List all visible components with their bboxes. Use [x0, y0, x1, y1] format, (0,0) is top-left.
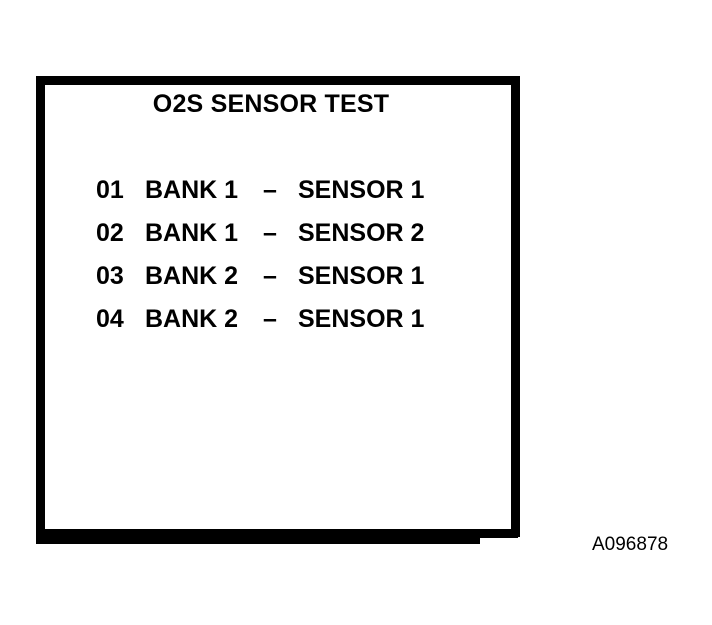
list-item-sensor: SENSOR 1 [298, 262, 448, 291]
screen-title: O2S SENSOR TEST [45, 90, 497, 119]
list-item[interactable]: 02 BANK 1 – SENSOR 2 [96, 219, 448, 262]
screen-frame-left-edge [36, 76, 45, 544]
figure-caption: A096878 [592, 534, 668, 556]
list-item-bank: BANK 2 [145, 305, 263, 334]
list-item-sensor: SENSOR 1 [298, 176, 448, 205]
list-item-index: 01 [96, 176, 145, 205]
list-item-dash: – [263, 219, 298, 248]
list-item[interactable]: 01 BANK 1 – SENSOR 1 [96, 176, 448, 219]
screen-frame-right-edge [511, 76, 520, 537]
list-item-bank: BANK 1 [145, 219, 263, 248]
list-item-sensor: SENSOR 2 [298, 219, 448, 248]
list-item-sensor: SENSOR 1 [298, 305, 448, 334]
screen-frame-top-edge [36, 76, 520, 85]
list-item[interactable]: 04 BANK 2 – SENSOR 1 [96, 305, 448, 348]
list-item-index: 04 [96, 305, 145, 334]
list-item[interactable]: 03 BANK 2 – SENSOR 1 [96, 262, 448, 305]
screen-frame-bottom-step [36, 535, 480, 544]
list-item-dash: – [263, 305, 298, 334]
list-item-dash: – [263, 176, 298, 205]
list-item-bank: BANK 2 [145, 262, 263, 291]
list-item-bank: BANK 1 [145, 176, 263, 205]
screen-frame-bottom-tail [478, 529, 518, 538]
figure-canvas: O2S SENSOR TEST 01 BANK 1 – SENSOR 1 02 … [0, 0, 712, 625]
list-item-index: 02 [96, 219, 145, 248]
list-item-dash: – [263, 262, 298, 291]
list-item-index: 03 [96, 262, 145, 291]
o2s-test-menu-list: 01 BANK 1 – SENSOR 1 02 BANK 1 – SENSOR … [96, 176, 448, 348]
